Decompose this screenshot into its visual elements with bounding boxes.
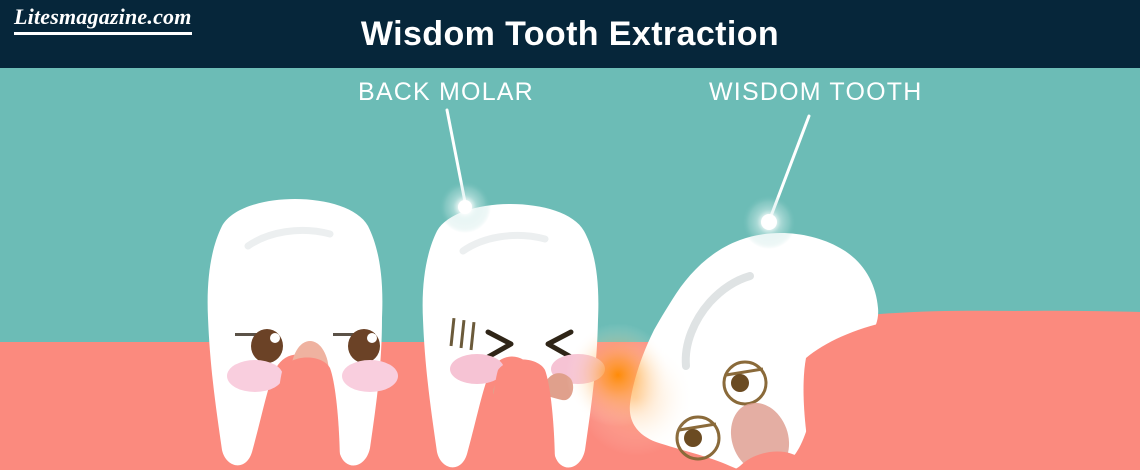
tooth-1-eye-left	[251, 329, 283, 363]
dental-illustration	[0, 68, 1140, 470]
label-wisdom-tooth: WISDOM TOOTH	[709, 78, 922, 107]
tooth-1-gum-wedge	[275, 358, 340, 470]
tooth-2-gum-wedge	[490, 360, 555, 470]
marker-dot-back-molar	[458, 200, 472, 214]
label-back-molar: BACK MOLAR	[358, 78, 534, 107]
pain-glow	[566, 323, 670, 427]
illustration-canvas: Litesmagazine.com Wisdom Tooth Extractio…	[0, 0, 1140, 470]
tooth-3-eye-upper-pupil	[731, 374, 749, 392]
marker-dot-wisdom-tooth	[761, 214, 777, 230]
tooth-back-molar	[423, 204, 605, 470]
header-bar: Litesmagazine.com Wisdom Tooth Extractio…	[0, 0, 1140, 68]
gum-over-wisdom	[804, 311, 1140, 470]
tooth-healthy-molar	[208, 199, 398, 470]
tooth-1-eye-highlight-right	[367, 333, 377, 343]
tooth-3-eye-lower-pupil	[684, 429, 702, 447]
page-title: Wisdom Tooth Extraction	[0, 15, 1140, 54]
tooth-1-eye-highlight-left	[270, 333, 280, 343]
tooth-1-eye-right	[348, 329, 380, 363]
tooth-1-cheek-left	[227, 360, 283, 392]
